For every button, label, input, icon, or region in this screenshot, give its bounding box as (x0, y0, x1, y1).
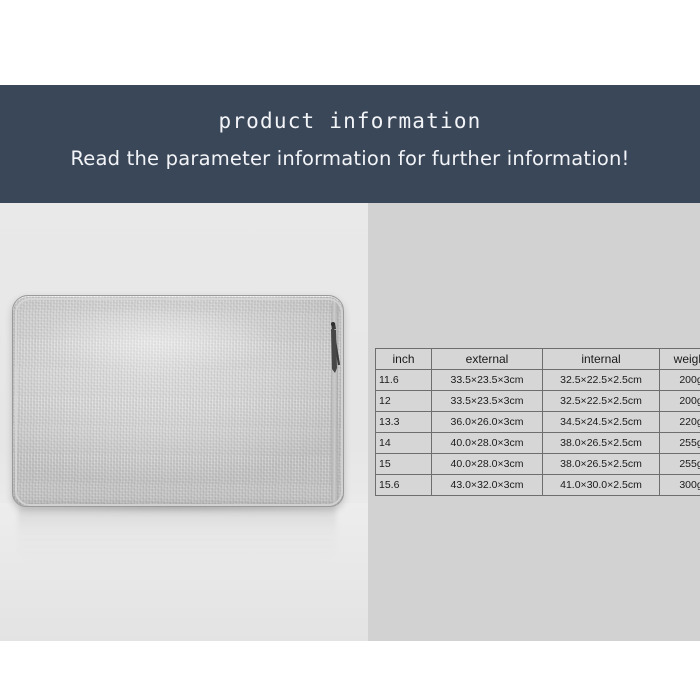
bag-reflection (18, 507, 336, 561)
specification-table: inch external internal weight 11.6 33.5×… (375, 348, 700, 496)
cell-internal: 34.5×24.5×2.5cm (543, 412, 660, 433)
column-header-internal: internal (543, 349, 660, 370)
table-row: 13.3 36.0×26.0×3cm 34.5×24.5×2.5cm 220g (376, 412, 700, 433)
cell-weight: 220g (660, 412, 700, 433)
cell-weight: 255g (660, 454, 700, 475)
cell-external: 43.0×32.0×3cm (432, 475, 543, 496)
cell-external: 40.0×28.0×3cm (432, 454, 543, 475)
cell-external: 33.5×23.5×3cm (432, 391, 543, 412)
cell-inch: 15.6 (376, 475, 432, 496)
bag-piping-seam (15, 298, 343, 506)
cell-internal: 41.0×30.0×2.5cm (543, 475, 660, 496)
cell-internal: 38.0×26.5×2.5cm (543, 433, 660, 454)
table-row: 11.6 33.5×23.5×3cm 32.5×22.5×2.5cm 200g (376, 370, 700, 391)
bag-body (12, 295, 344, 507)
cell-inch: 13.3 (376, 412, 432, 433)
cell-external: 33.5×23.5×3cm (432, 370, 543, 391)
content-band: inch external internal weight 11.6 33.5×… (0, 203, 700, 641)
column-header-weight: weight (660, 349, 700, 370)
table-row: 15.6 43.0×32.0×3cm 41.0×30.0×2.5cm 300g (376, 475, 700, 496)
cell-weight: 200g (660, 391, 700, 412)
zipper-pull-icon (326, 321, 342, 379)
column-header-inch: inch (376, 349, 432, 370)
cell-inch: 12 (376, 391, 432, 412)
cell-internal: 32.5×22.5×2.5cm (543, 370, 660, 391)
table-header-row: inch external internal weight (376, 349, 700, 370)
column-header-external: external (432, 349, 543, 370)
cell-weight: 300g (660, 475, 700, 496)
cell-internal: 32.5×22.5×2.5cm (543, 391, 660, 412)
product-information-page: product information Read the parameter i… (0, 0, 700, 700)
product-photo-panel (0, 203, 368, 641)
cell-weight: 200g (660, 370, 700, 391)
table-row: 15 40.0×28.0×3cm 38.0×26.5×2.5cm 255g (376, 454, 700, 475)
cell-external: 40.0×28.0×3cm (432, 433, 543, 454)
product-information-banner: product information Read the parameter i… (0, 85, 700, 203)
laptop-sleeve-product-image (12, 295, 344, 507)
page-title: product information (0, 109, 700, 133)
cell-external: 36.0×26.0×3cm (432, 412, 543, 433)
cell-inch: 11.6 (376, 370, 432, 391)
banner-subtitle: Read the parameter information for furth… (0, 147, 700, 170)
cell-internal: 38.0×26.5×2.5cm (543, 454, 660, 475)
cell-weight: 255g (660, 433, 700, 454)
cell-inch: 15 (376, 454, 432, 475)
table-row: 12 33.5×23.5×3cm 32.5×22.5×2.5cm 200g (376, 391, 700, 412)
cell-inch: 14 (376, 433, 432, 454)
table-row: 14 40.0×28.0×3cm 38.0×26.5×2.5cm 255g (376, 433, 700, 454)
specification-panel: inch external internal weight 11.6 33.5×… (368, 203, 700, 641)
